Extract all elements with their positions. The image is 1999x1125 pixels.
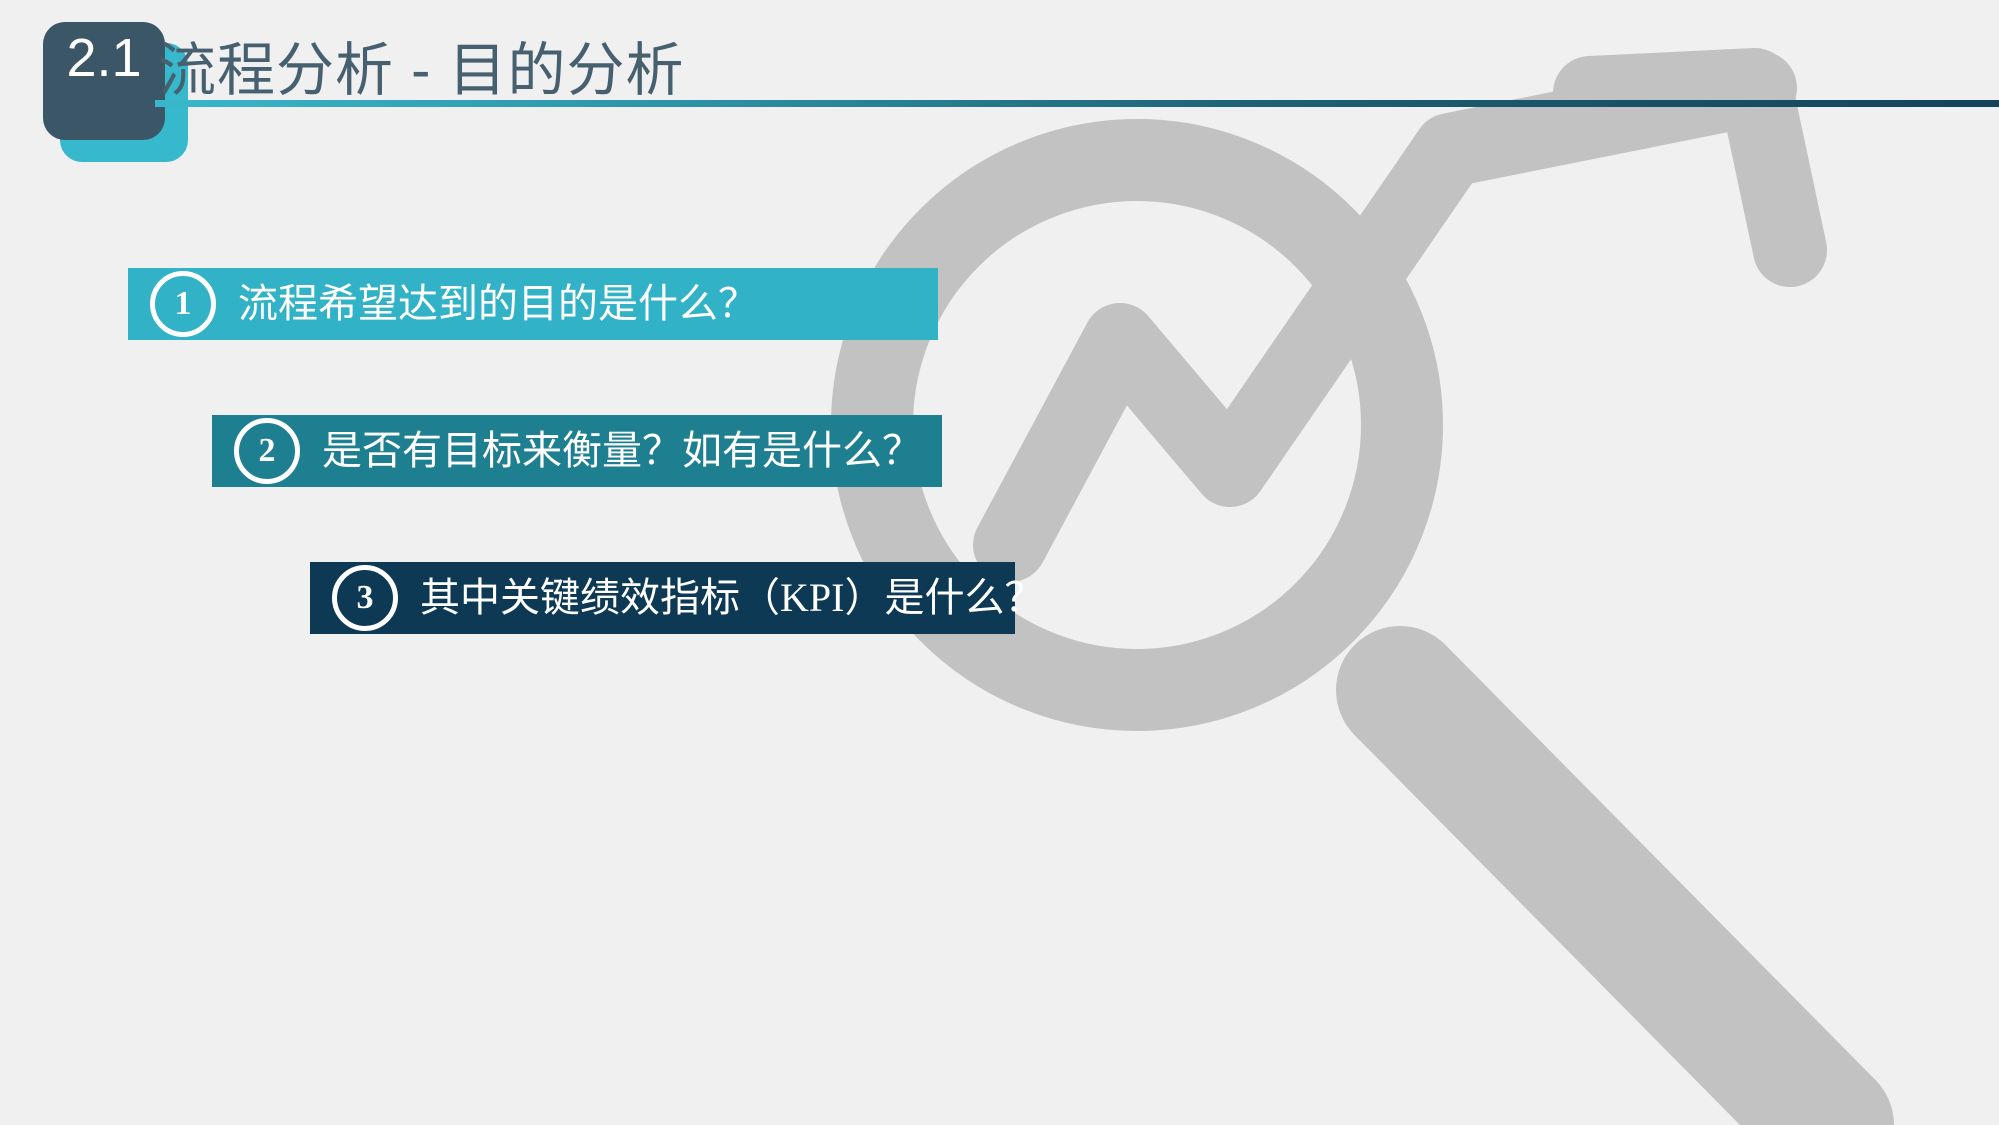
slide-header: 2.1 流程分析 - 目的分析 — [0, 0, 1999, 160]
section-number-text: 2.1 — [43, 30, 165, 87]
list-item[interactable]: 3 其中关键绩效指标（KPI）是什么？ — [310, 562, 1015, 634]
item-label: 其中关键绩效指标（KPI）是什么？ — [420, 575, 1044, 621]
magnifier-handle-icon — [1400, 690, 1830, 1125]
section-number-badge: 2.1 — [43, 22, 165, 140]
item-number-badge: 1 — [150, 271, 216, 337]
item-number-text: 3 — [357, 579, 374, 617]
list-item[interactable]: 2 是否有目标来衡量？如有是什么？ — [212, 415, 942, 487]
page-title: 流程分析 - 目的分析 — [158, 36, 685, 106]
item-label: 是否有目标来衡量？如有是什么？ — [322, 428, 922, 474]
item-number-text: 2 — [259, 432, 276, 470]
header-divider-rule — [155, 100, 1999, 107]
item-label: 流程希望达到的目的是什么？ — [238, 281, 758, 327]
slide-canvas: 2.1 流程分析 - 目的分析 1 流程希望达到的目的是什么？ 2 是否有目标来… — [0, 0, 1999, 1125]
item-number-text: 1 — [175, 285, 192, 323]
item-number-badge: 3 — [332, 565, 398, 631]
list-item[interactable]: 1 流程希望达到的目的是什么？ — [128, 268, 938, 340]
item-number-badge: 2 — [234, 418, 300, 484]
